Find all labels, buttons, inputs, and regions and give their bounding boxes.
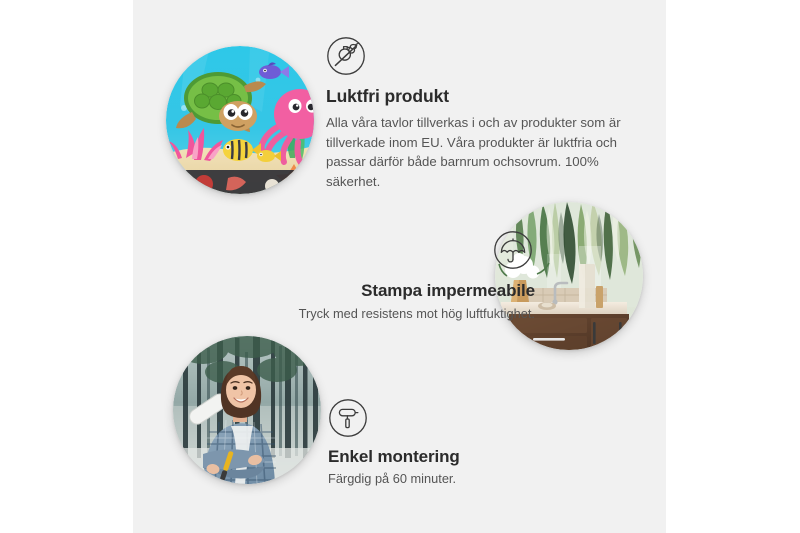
feature-description: Färgdig på 60 minuter. xyxy=(328,469,618,488)
feature-title: Luktfri produkt xyxy=(326,86,636,108)
photo-woman-with-paint-roller xyxy=(173,336,321,484)
product-feature-infographic: Luktfri produkt Alla våra tavlor tillver… xyxy=(0,0,800,533)
feature-title: Enkel montering xyxy=(328,446,618,467)
feature-title: Stampa impermeabile xyxy=(205,280,535,301)
feature-easy-mounting: Enkel montering Färgdig på 60 minuter. xyxy=(328,398,618,488)
photo-underwater-scene xyxy=(166,46,314,194)
feature-description: Alla våra tavlor tillverkas i och av pro… xyxy=(326,113,636,192)
infographic-panel: Luktfri produkt Alla våra tavlor tillver… xyxy=(133,0,666,533)
paint-roller-icon xyxy=(328,398,368,438)
feature-odour-free: Luktfri produkt Alla våra tavlor tillver… xyxy=(326,36,636,192)
no-perfume-icon xyxy=(326,36,366,76)
feature-waterproof-print: Stampa impermeabile Tryck med resistens … xyxy=(205,230,535,323)
feature-description: Tryck med resistens mot hög luftfuktighe… xyxy=(205,304,535,323)
umbrella-icon xyxy=(493,230,533,270)
